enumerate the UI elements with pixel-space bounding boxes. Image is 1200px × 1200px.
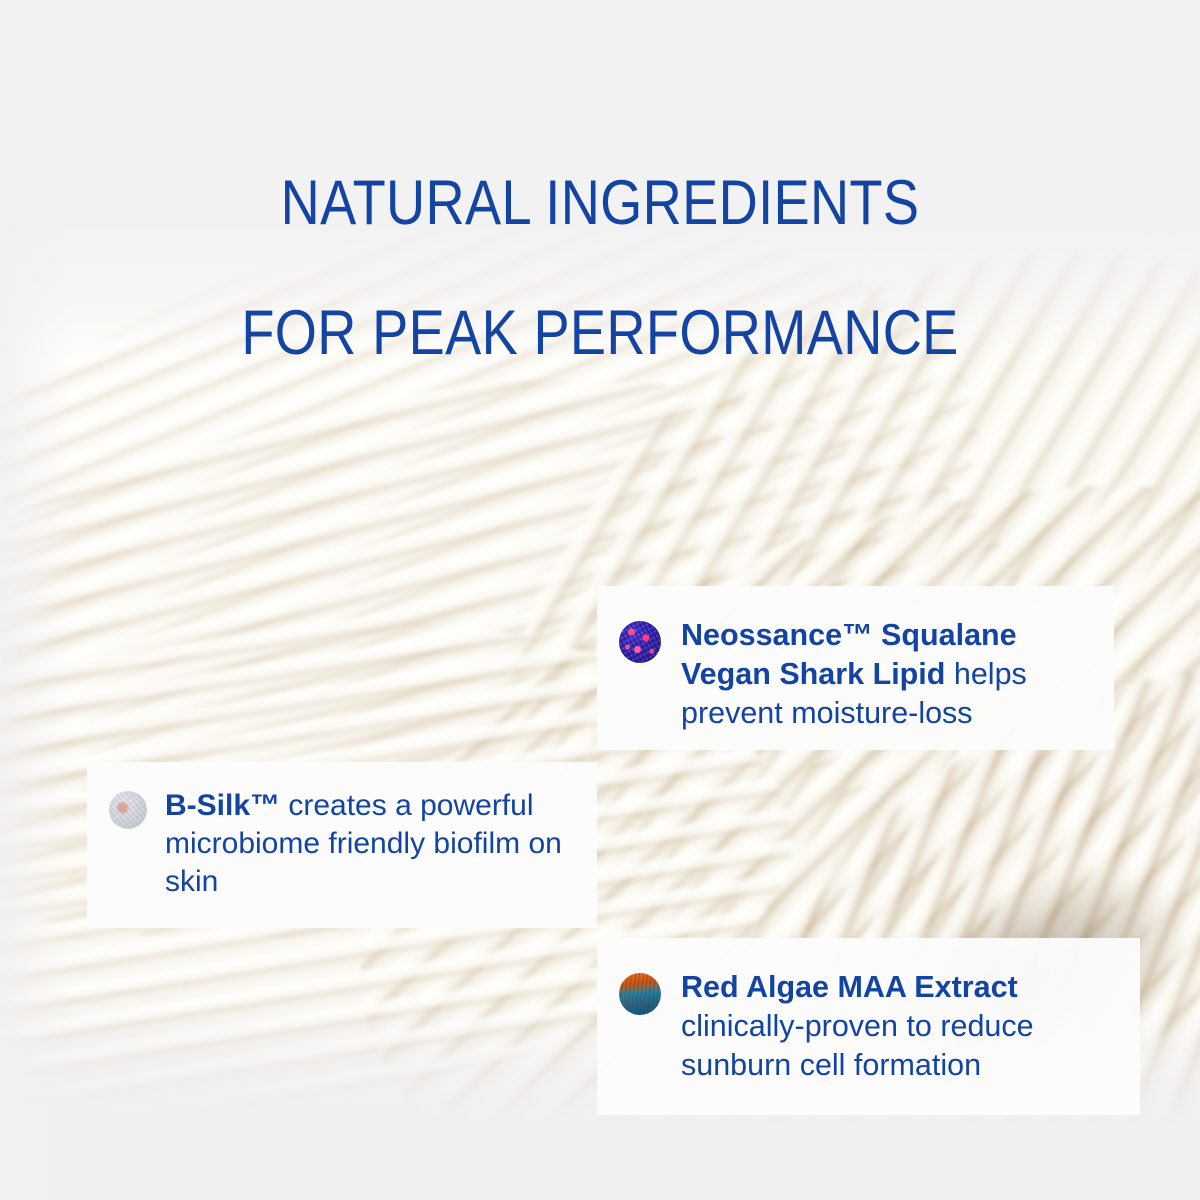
page-title: NATURAL INGREDIENTS FOR PEAK PERFORMANCE (84, 106, 1116, 430)
neossance-squalane-icon (619, 621, 661, 663)
promo-graphic: NATURAL INGREDIENTS FOR PEAK PERFORMANCE… (0, 0, 1200, 1200)
ingredient-card-redalgae-text: Red Algae MAA Extract clinically-proven … (681, 968, 1120, 1085)
ingredient-card-neossance-text: Neossance™ Squalane Vegan Shark Lipid he… (681, 616, 1088, 733)
ingredient-card-neossance: Neossance™ Squalane Vegan Shark Lipid he… (597, 586, 1114, 750)
red-algae-maa-icon (619, 973, 661, 1015)
ingredient-card-bsilk: B-Silk™ creates a powerful microbiome fr… (87, 762, 597, 928)
page-title-line-2: FOR PEAK PERFORMANCE (84, 301, 1116, 366)
ingredient-card-redalgae: Red Algae MAA Extract clinically-proven … (597, 938, 1140, 1115)
ingredient-card-bsilk-text: B-Silk™ creates a powerful microbiome fr… (165, 787, 577, 901)
left-fade-overlay (0, 0, 72, 1200)
ingredient-desc-redalgae: clinically-proven to reduce sunburn cell… (681, 1009, 1034, 1082)
ingredient-name-redalgae: Red Algae MAA Extract (681, 970, 1018, 1004)
page-title-line-1: NATURAL INGREDIENTS (84, 171, 1116, 236)
ingredient-name-bsilk: B-Silk™ (165, 789, 280, 822)
b-silk-icon (109, 791, 147, 829)
